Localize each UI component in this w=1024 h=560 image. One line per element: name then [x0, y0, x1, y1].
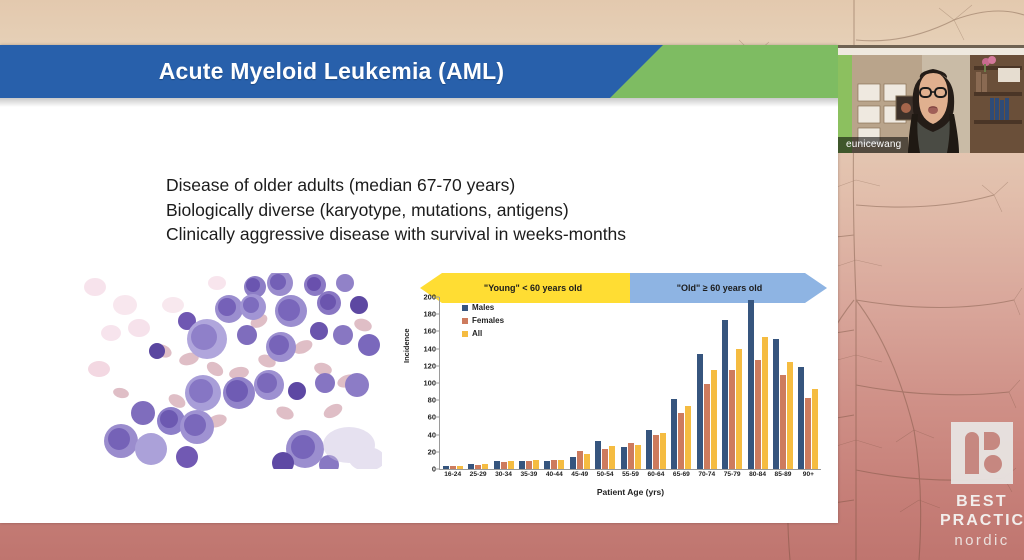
chart-legend-label: Males: [472, 303, 494, 312]
chart-bar: [646, 430, 652, 469]
chart-bar-group: [567, 297, 592, 469]
chart-bar: [685, 406, 691, 469]
chart-bar: [653, 435, 659, 469]
chart-y-tick-mark: [435, 451, 439, 452]
chart-bar: [678, 413, 684, 469]
chart-bar: [584, 454, 590, 469]
chart-bar-group: [669, 297, 694, 469]
best-practice-nordic-logo: BEST PRACTICE nordic: [940, 422, 1024, 554]
chart-bar: [697, 354, 703, 469]
chart-bar-group: [770, 297, 795, 469]
bp-logo-line2: PRACTICE: [940, 512, 1024, 530]
chart-bar: [443, 466, 449, 469]
chart-x-tick-label: 60-64: [643, 471, 668, 478]
chart-bar-group: [592, 297, 617, 469]
chart-bar: [798, 367, 804, 469]
chart-bar: [508, 461, 514, 469]
chart-bar: [635, 445, 641, 469]
chart-y-tick-mark: [435, 417, 439, 418]
chart-y-tick-mark: [435, 331, 439, 332]
chart-y-tick-label: 40: [410, 430, 436, 439]
chart-bar: [609, 446, 615, 469]
chart-bar: [621, 447, 627, 469]
bullet-line: Clinically aggressive disease with survi…: [166, 222, 806, 247]
chart-bar: [482, 464, 488, 469]
chart-bar: [533, 460, 539, 469]
bp-logo-line3: nordic: [940, 532, 1024, 549]
chart-y-tick-mark: [435, 314, 439, 315]
chart-y-tick-label: 180: [410, 310, 436, 319]
chart-x-axis-ticks: 16-2425-2930-3435-3940-4445-4950-5455-59…: [440, 471, 821, 478]
chart-y-tick-label: 140: [410, 344, 436, 353]
chart-bar: [722, 320, 728, 469]
chart-y-tick-mark: [435, 365, 439, 366]
chart-bar: [805, 398, 811, 469]
chart-x-tick-label: 40-44: [542, 471, 567, 478]
chart-x-tick-label: 35-39: [516, 471, 541, 478]
chart-bar: [602, 449, 608, 469]
chart-bar: [457, 466, 463, 469]
chart-bar: [748, 300, 754, 469]
chart-legend-swatch: [462, 305, 468, 311]
slide-title: Acute Myeloid Leukemia (AML): [0, 45, 663, 98]
chart-plot-area: Incidence 020406080100120140160180200 16…: [402, 297, 827, 503]
chart-bar-group: [643, 297, 668, 469]
chart-y-tick-label: 80: [410, 396, 436, 405]
chart-x-tick-label: 16-24: [440, 471, 465, 478]
chart-x-tick-label: 90+: [796, 471, 821, 478]
chart-x-tick-label: 85-89: [770, 471, 795, 478]
chart-bar: [762, 337, 768, 469]
chart-bar: [544, 461, 550, 469]
slide-title-bar: Acute Myeloid Leukemia (AML): [0, 45, 838, 98]
chart-bar-group: [694, 297, 719, 469]
chart-bar: [501, 462, 507, 469]
chart-bar: [551, 460, 557, 469]
chart-bar-group: [745, 297, 770, 469]
chart-y-tick-label: 60: [410, 413, 436, 422]
chart-bar-group: [542, 297, 567, 469]
chart-x-tick-label: 75-79: [719, 471, 744, 478]
screen-root: Acute Myeloid Leukemia (AML) Disease of …: [0, 0, 1024, 560]
chart-y-tick-label: 20: [410, 447, 436, 456]
chart-legend-item: Males: [462, 303, 504, 312]
chart-x-axis-label: Patient Age (yrs): [440, 487, 821, 497]
chart-y-tick-mark: [435, 469, 439, 470]
chart-bar-group: [796, 297, 821, 469]
chart-x-tick-label: 50-54: [592, 471, 617, 478]
chart-x-tick-label: 65-69: [669, 471, 694, 478]
webcam-video-tile[interactable]: eunicewang: [838, 48, 1024, 153]
chart-legend-item: Females: [462, 316, 504, 325]
bp-logo-line1: BEST: [940, 493, 1024, 511]
chart-y-tick-mark: [435, 348, 439, 349]
chart-bar: [570, 457, 576, 469]
chart-legend: MalesFemalesAll: [462, 303, 504, 342]
chart-bar: [468, 464, 474, 469]
chart-x-tick-label: 55-59: [618, 471, 643, 478]
chart-bar-group: [719, 297, 744, 469]
chart-legend-label: Females: [472, 316, 504, 325]
chart-bar: [755, 360, 761, 469]
chart-bar: [773, 339, 779, 469]
chart-bar: [526, 461, 532, 469]
slide-bullet-list: Disease of older adults (median 67-70 ye…: [166, 173, 806, 247]
chart-bar: [494, 461, 500, 469]
chart-legend-label: All: [472, 329, 482, 338]
webcam-participant-name: eunicewang: [838, 137, 908, 153]
chart-bar: [736, 349, 742, 469]
chart-bar: [711, 370, 717, 469]
chart-y-axis-ticks: 020406080100120140160180200: [410, 297, 436, 469]
chart-x-tick-label: 25-29: [465, 471, 490, 478]
chart-y-tick-label: 120: [410, 361, 436, 370]
chart-y-tick-mark: [435, 434, 439, 435]
chart-y-tick-mark: [435, 383, 439, 384]
chart-x-tick-label: 70-74: [694, 471, 719, 478]
chart-bar: [475, 465, 481, 469]
chart-y-tick-label: 200: [410, 293, 436, 302]
chart-y-tick-label: 0: [410, 465, 436, 474]
chart-x-tick-label: 45-49: [567, 471, 592, 478]
chart-bar: [729, 370, 735, 469]
chart-x-axis-line: [439, 469, 821, 470]
chart-bar: [780, 375, 786, 469]
chart-bar: [558, 460, 564, 469]
chart-legend-swatch: [462, 331, 468, 337]
chart-bar: [671, 399, 677, 469]
chart-x-tick-label: 30-34: [491, 471, 516, 478]
chart-bar: [577, 451, 583, 469]
chart-bar: [660, 433, 666, 469]
incidence-bar-chart: "Young" < 60 years old "Old" ≥ 60 years …: [402, 273, 827, 503]
chart-bar: [519, 461, 525, 469]
bullet-line: Biologically diverse (karyotype, mutatio…: [166, 198, 806, 223]
bp-logo-mark: [951, 422, 1013, 484]
chart-y-tick-mark: [435, 297, 439, 298]
title-shadow: [0, 98, 838, 107]
chart-y-tick-mark: [435, 400, 439, 401]
chart-bar: [595, 441, 601, 469]
chart-legend-item: All: [462, 329, 504, 338]
chart-bar: [787, 362, 793, 469]
blood-smear-micrograph: [77, 273, 382, 469]
chart-bar: [812, 389, 818, 469]
chart-y-tick-label: 100: [410, 379, 436, 388]
chart-bar: [704, 384, 710, 469]
chart-bar: [628, 443, 634, 469]
chart-bar-group: [516, 297, 541, 469]
chart-bar: [450, 466, 456, 469]
chart-y-tick-label: 160: [410, 327, 436, 336]
chart-bar-group: [618, 297, 643, 469]
chart-x-tick-label: 80-84: [745, 471, 770, 478]
bullet-line: Disease of older adults (median 67-70 ye…: [166, 173, 806, 198]
chart-legend-swatch: [462, 318, 468, 324]
presentation-slide: Acute Myeloid Leukemia (AML) Disease of …: [0, 45, 838, 523]
